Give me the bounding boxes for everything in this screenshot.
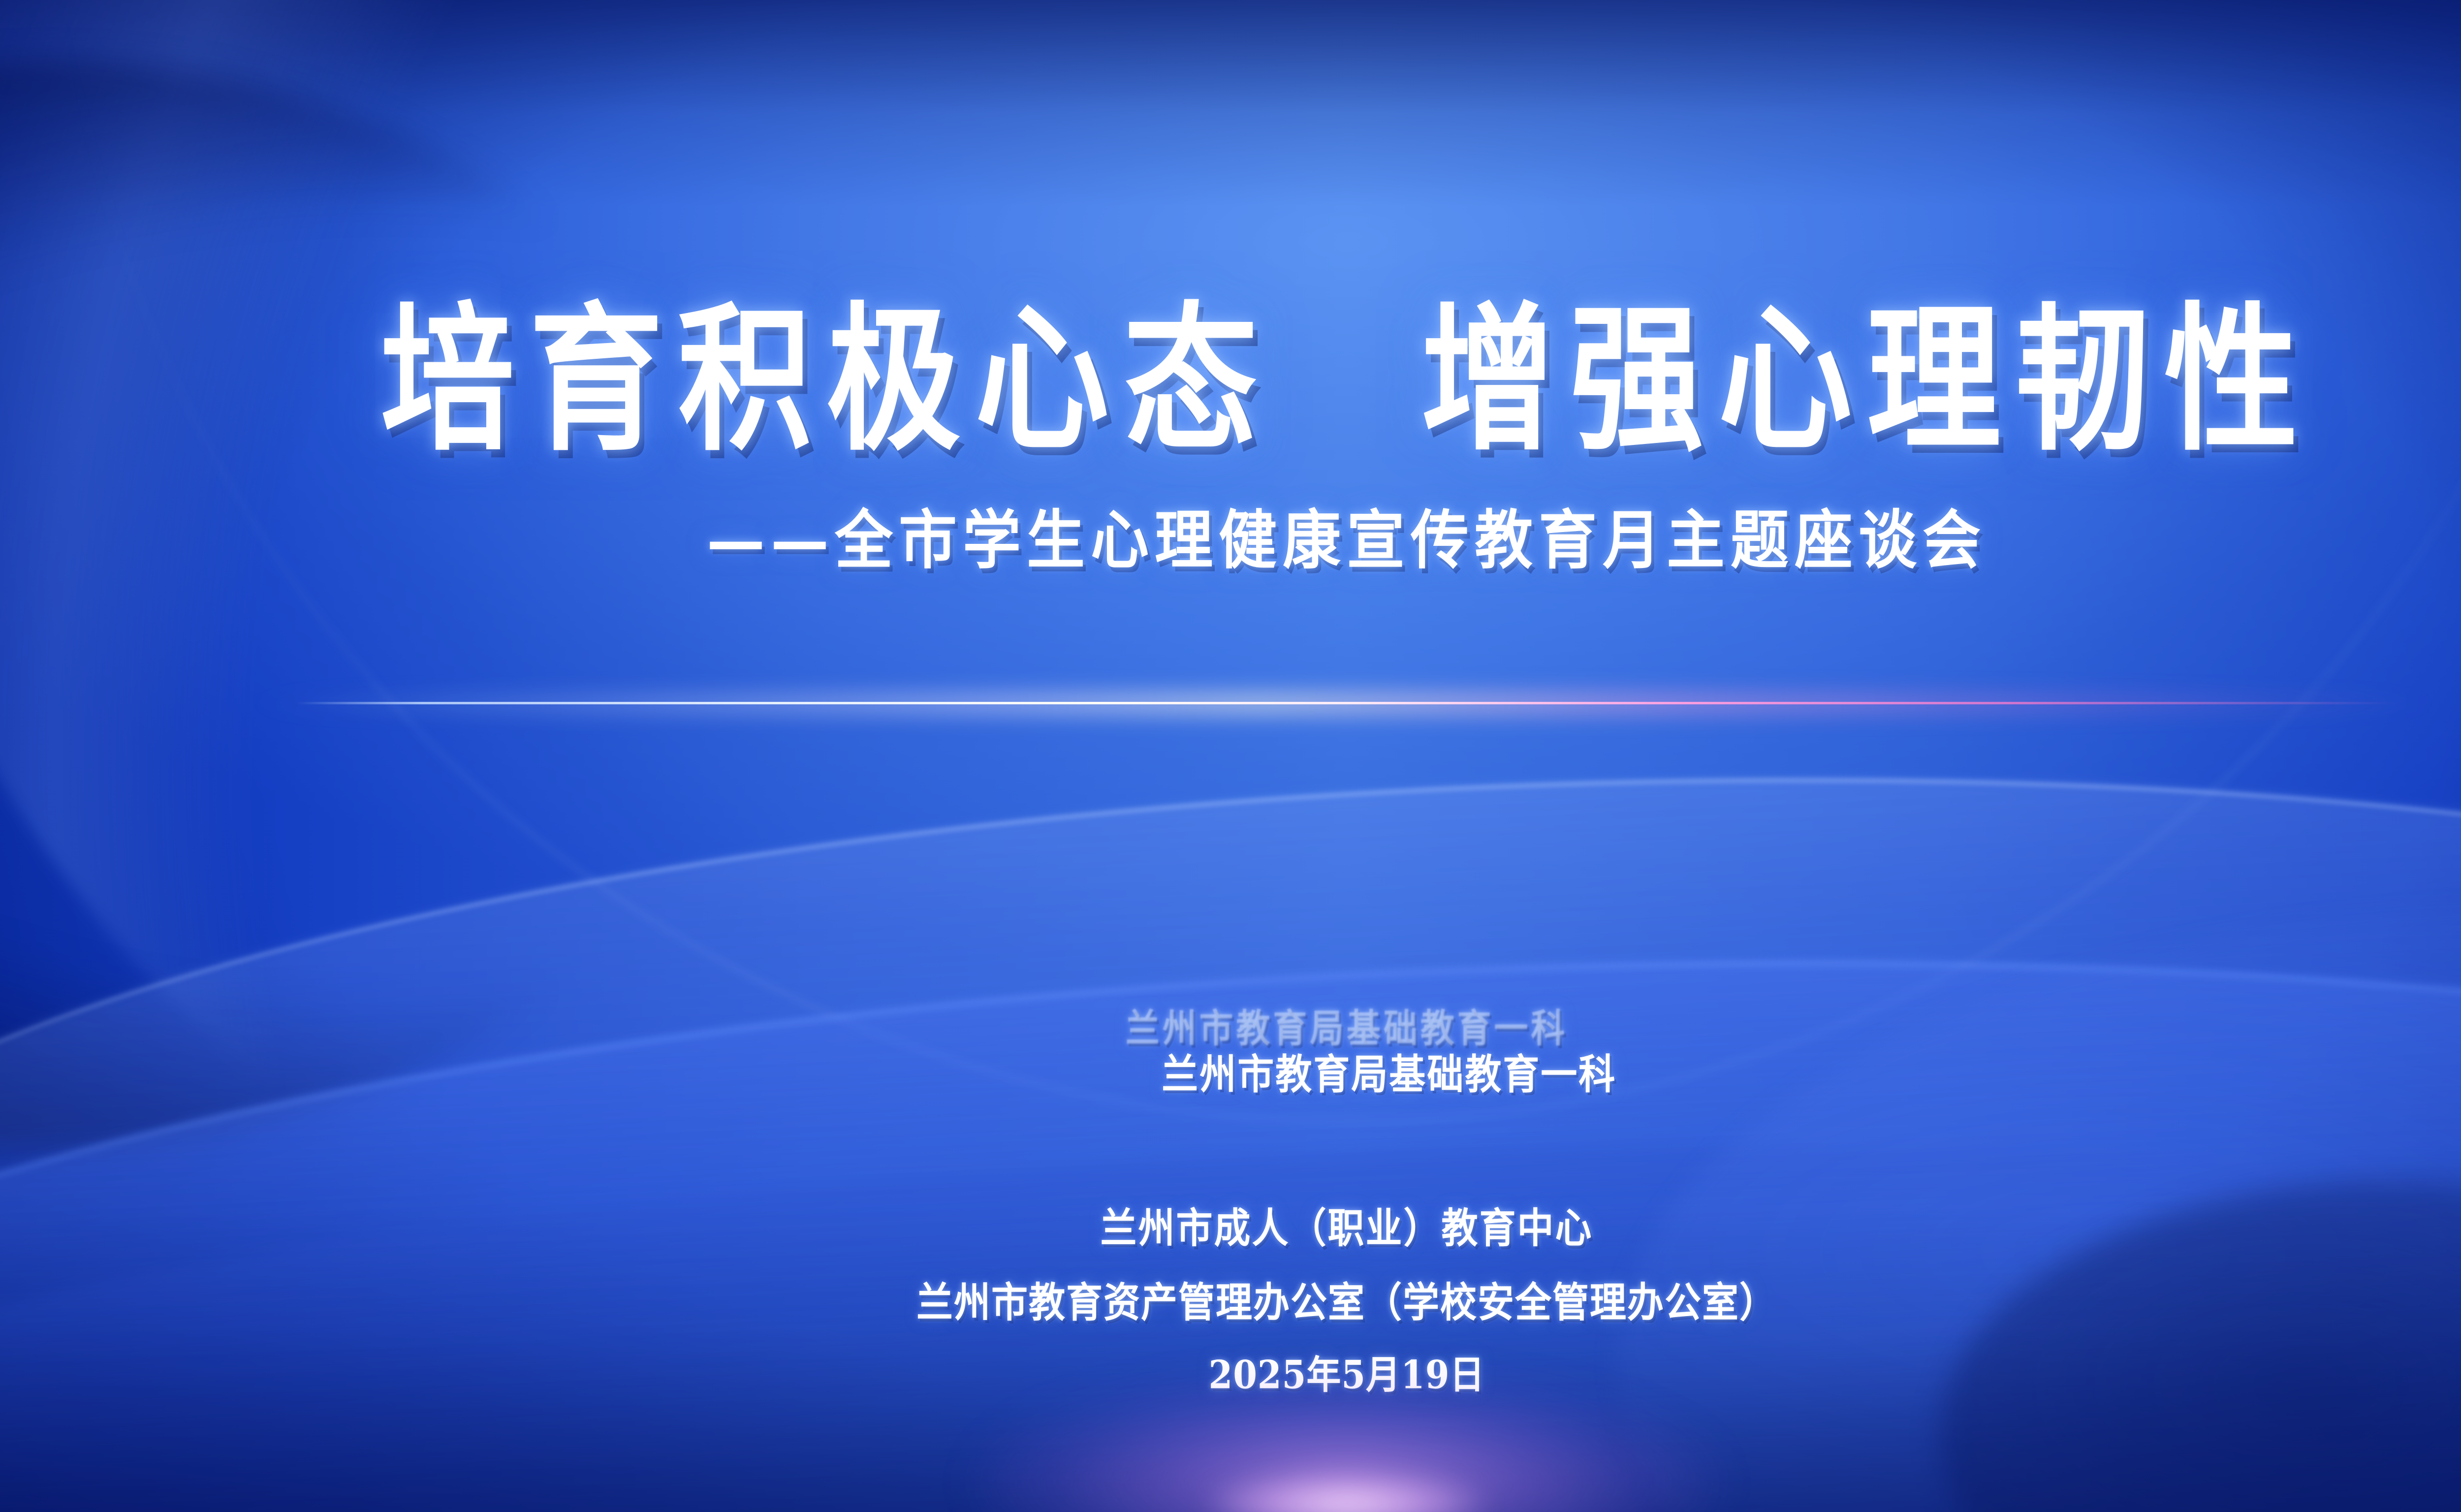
page-subtitle: ——全市学生心理健康宣传教育月主题座谈会 bbox=[707, 488, 1987, 581]
organizer-line-1: 兰州市教育局基础教育一科 兰州市教育局基础教育一科 bbox=[1077, 994, 1617, 1196]
divider bbox=[0, 688, 2461, 723]
organizer-line-3: 兰州市教育资产管理办公室（学校安全管理办公室） bbox=[916, 1270, 1777, 1329]
organizer-line-1-ghost-artifact: 兰州市教育局基础教育一科 bbox=[1126, 998, 1568, 1053]
page-title: 培育积极心态 增强心理韧性 bbox=[380, 301, 2313, 459]
organizer-line-2: 兰州市成人（职业）教育中心 bbox=[1101, 1196, 1593, 1255]
organizer-line-1-text: 兰州市教育局基础教育一科 bbox=[1162, 1051, 1616, 1098]
organizer-block: 兰州市教育局基础教育一科 兰州市教育局基础教育一科 兰州市成人（职业）教育中心 … bbox=[0, 994, 2461, 1394]
event-date: 2025年5月19日 bbox=[1209, 1344, 1485, 1400]
divider-line bbox=[296, 702, 2397, 704]
presentation-backdrop: 培育积极心态 增强心理韧性 ——全市学生心理健康宣传教育月主题座谈会 兰州市教育… bbox=[0, 0, 2461, 1512]
